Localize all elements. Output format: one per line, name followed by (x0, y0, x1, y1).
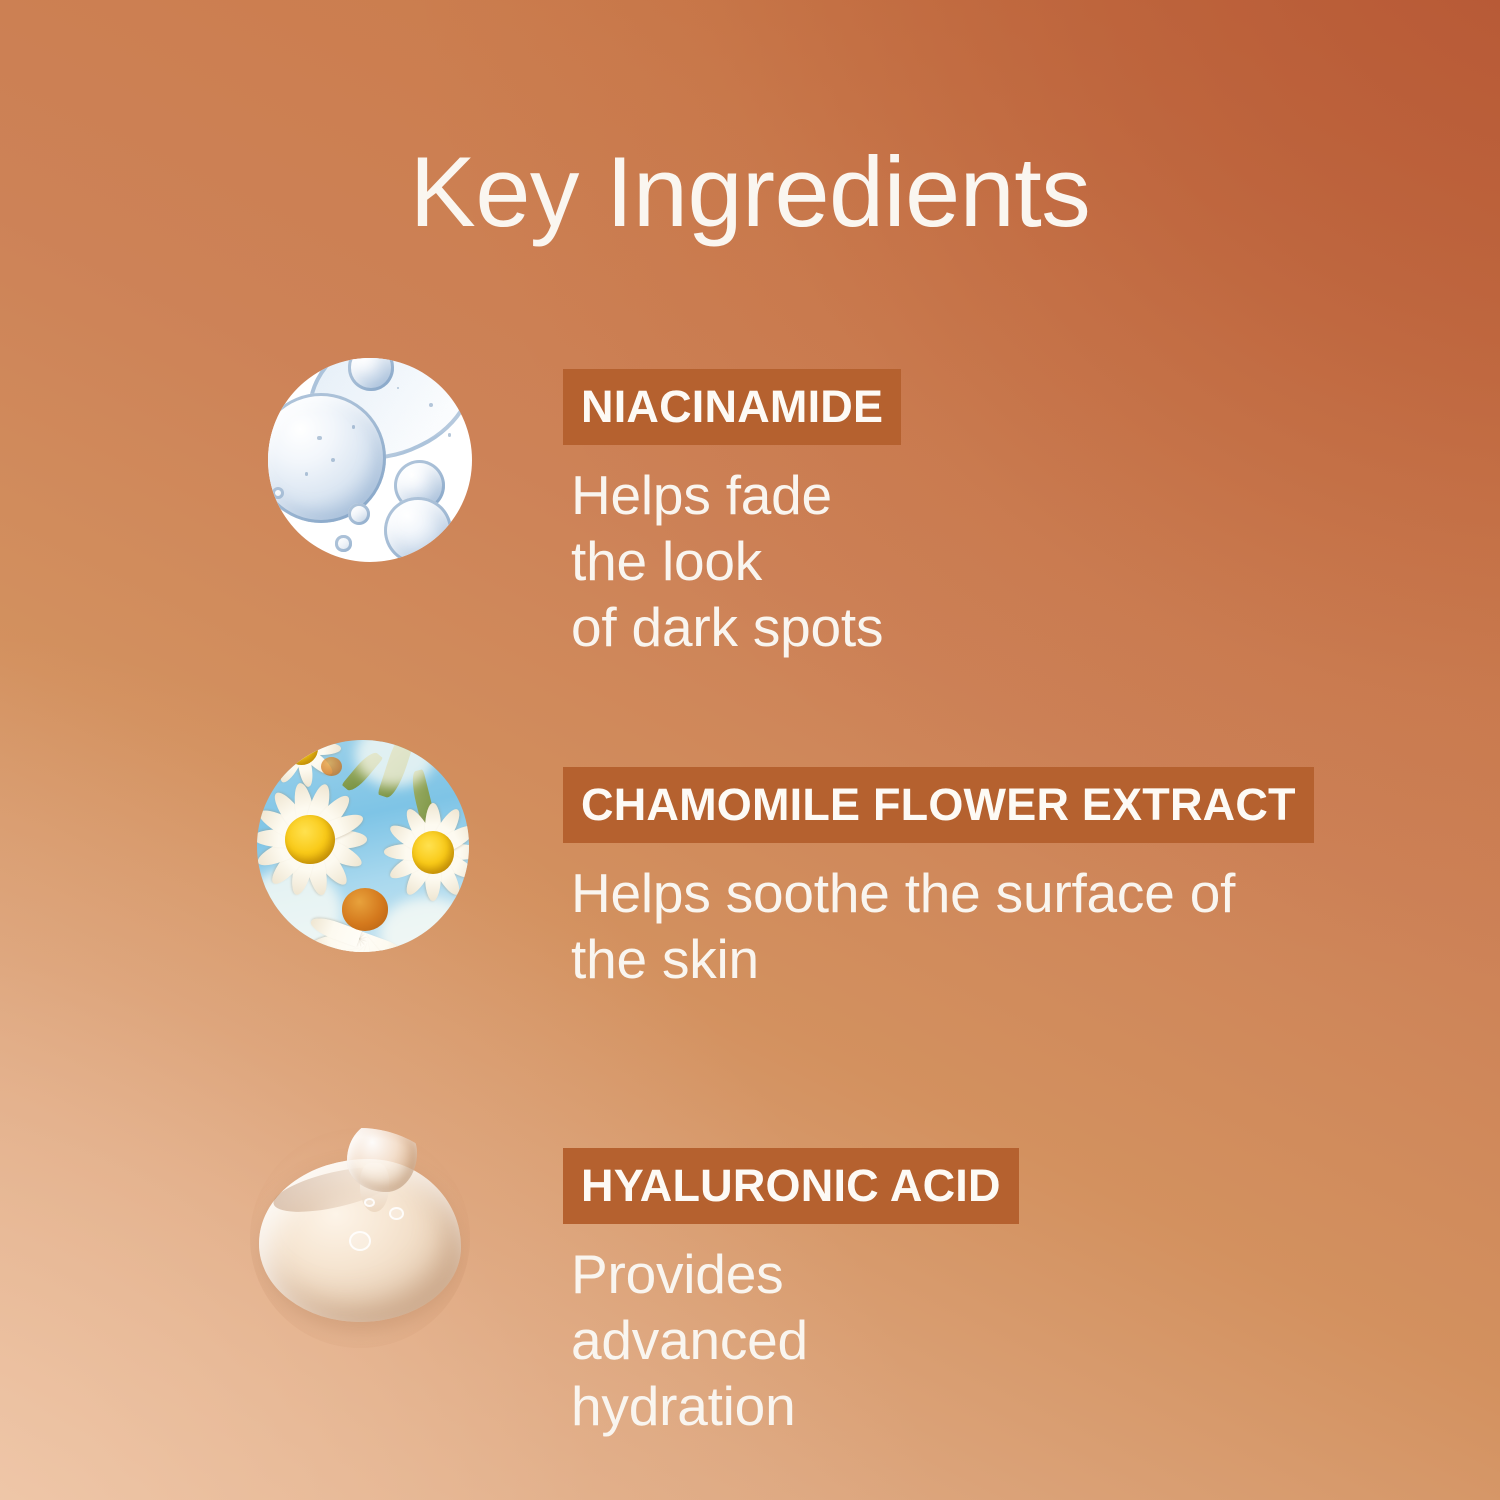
ingredient-description: Helps fade the look of dark spots (571, 462, 901, 660)
page-title: Key Ingredients (0, 142, 1500, 241)
key-ingredients-poster: Key Ingredients NIACI (0, 0, 1500, 1500)
ingredient-name-chip: HYALURONIC ACID (563, 1148, 1019, 1224)
serum-bubbles-photo (268, 358, 472, 562)
ingredient-image-niacinamide (268, 358, 472, 562)
ingredient-description: Provides advanced hydration (571, 1241, 1019, 1439)
ingredient-image-chamomile (257, 740, 469, 952)
ingredient-image-hyaluronic (250, 1128, 470, 1348)
ingredient-name-chip: NIACINAMIDE (563, 369, 901, 445)
chamomile-flowers-photo (257, 740, 469, 952)
ingredient-copy-chamomile: CHAMOMILE FLOWER EXTRACT Helps soothe th… (563, 767, 1314, 992)
ingredient-name-chip: CHAMOMILE FLOWER EXTRACT (563, 767, 1314, 843)
ingredient-copy-niacinamide: NIACINAMIDE Helps fade the look of dark … (563, 369, 901, 660)
clear-gel-droplet-photo (250, 1128, 470, 1348)
ingredient-copy-hyaluronic: HYALURONIC ACID Provides advanced hydrat… (563, 1148, 1019, 1439)
ingredient-description: Helps soothe the surface of the skin (571, 860, 1314, 992)
